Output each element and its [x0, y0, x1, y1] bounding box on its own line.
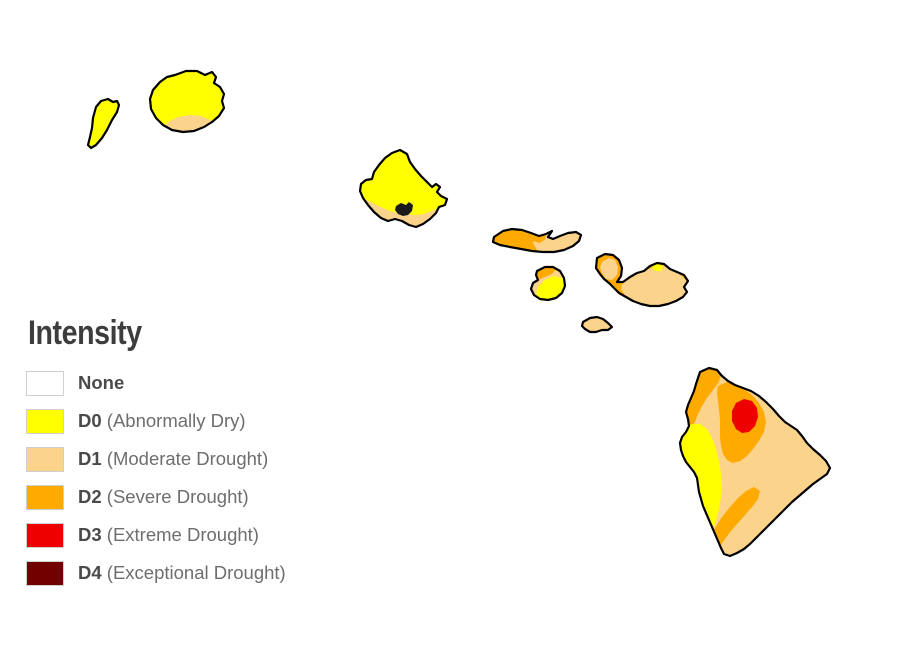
legend-item-d2[interactable]: D2 (Severe Drought) [26, 478, 366, 516]
legend-swatch-d3 [26, 523, 64, 548]
island-kahoolawe [578, 312, 618, 338]
legend-label-d4: D4 (Exceptional Drought) [78, 564, 286, 583]
legend-item-d0[interactable]: D0 (Abnormally Dry) [26, 402, 366, 440]
legend-item-d3[interactable]: D3 (Extreme Drought) [26, 516, 366, 554]
island-niihau [80, 90, 140, 160]
island-lanai [525, 262, 573, 304]
legend-item-none[interactable]: None [26, 364, 366, 402]
drought-map-page: Intensity None D0 (Abnormally Dry) D1 (M… [0, 0, 900, 652]
legend: Intensity None D0 (Abnormally Dry) D1 (M… [26, 316, 366, 592]
legend-swatch-d0 [26, 409, 64, 434]
legend-label-none: None [78, 374, 124, 393]
legend-swatch-d2 [26, 485, 64, 510]
legend-swatch-d4 [26, 561, 64, 586]
legend-swatch-d1 [26, 447, 64, 472]
legend-label-d1: D1 (Moderate Drought) [78, 450, 268, 469]
island-kauai [140, 60, 240, 145]
island-hawaii-big-island [670, 360, 845, 570]
legend-item-d1[interactable]: D1 (Moderate Drought) [26, 440, 366, 478]
legend-label-d2: D2 (Severe Drought) [78, 488, 249, 507]
legend-swatch-none [26, 371, 64, 396]
legend-label-d0: D0 (Abnormally Dry) [78, 412, 246, 431]
island-molokai [488, 225, 588, 260]
island-maui [590, 248, 695, 310]
island-oahu [350, 140, 460, 240]
legend-item-d4[interactable]: D4 (Exceptional Drought) [26, 554, 366, 592]
legend-label-d3: D3 (Extreme Drought) [78, 526, 259, 545]
legend-title: Intensity [28, 316, 312, 350]
